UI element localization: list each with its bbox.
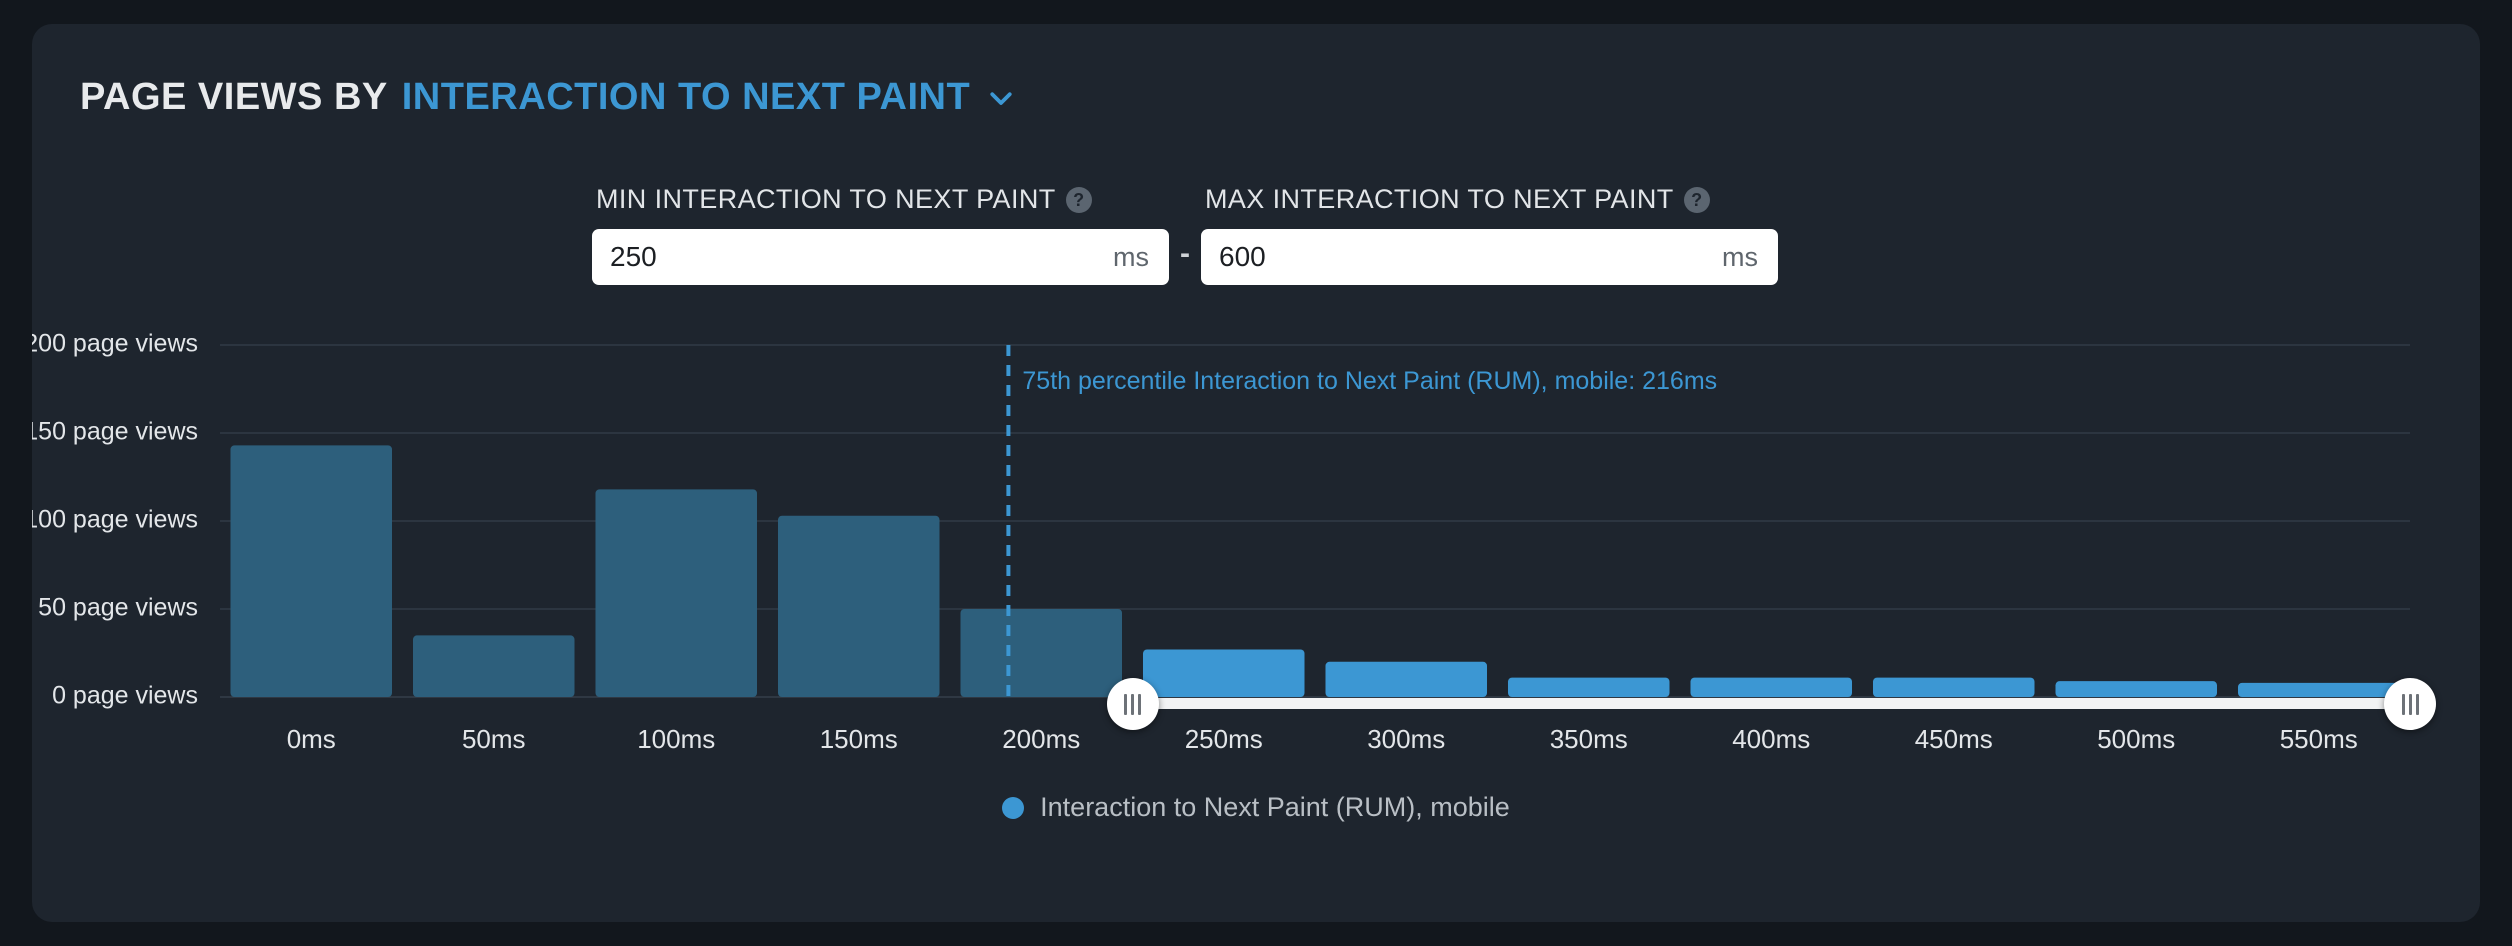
y-axis-tick-label: 200 page views [32,330,198,358]
x-axis-tick-label: 200ms [1002,724,1080,754]
histogram-bar[interactable] [1325,662,1487,697]
range-slider-fill[interactable] [1133,698,2411,709]
chart-card: PAGE VIEWS BY INTERACTION TO NEXT PAINT … [32,24,2480,922]
y-axis-labels: 0 page views50 page views100 page views1… [32,330,198,710]
x-axis-tick-label: 550ms [2280,724,2358,754]
y-axis-tick-label: 50 page views [38,594,198,622]
x-axis-tick-label: 100ms [637,724,715,754]
histogram-bar[interactable] [2238,683,2400,697]
x-axis-tick-label: 500ms [2097,724,2175,754]
grip-line [2416,694,2419,715]
chart-canvas: 0 page views50 page views100 page views1… [32,24,2480,922]
max-filter-label: MAX INTERACTION TO NEXT PAINT [1205,184,1674,215]
histogram-bar[interactable] [1508,678,1670,697]
min-value-input[interactable] [592,229,1169,285]
min-unit-label: ms [1113,242,1149,273]
histogram-bar[interactable] [2055,681,2217,697]
chevron-down-icon[interactable] [986,83,1016,113]
x-axis-tick-label: 250ms [1185,724,1263,754]
percentile-annotation-label: 75th percentile Interaction to Next Pain… [1022,367,1717,395]
min-filter-group: MIN INTERACTION TO NEXT PAINT ? ms [592,184,1169,285]
min-input-wrapper[interactable]: ms [592,229,1169,285]
gridlines [220,345,2410,697]
grip-line [2402,694,2405,715]
max-input-wrapper[interactable]: ms [1201,229,1778,285]
histogram-bar[interactable] [778,516,940,697]
min-filter-label: MIN INTERACTION TO NEXT PAINT [596,184,1056,215]
y-axis-tick-label: 0 page views [52,682,198,710]
bars-group [230,445,2399,697]
percentile-annotation: 75th percentile Interaction to Next Pain… [1008,345,1717,703]
max-unit-label: ms [1722,242,1758,273]
histogram-bar[interactable] [1873,678,2035,697]
min-range-handle[interactable] [1107,678,1159,730]
x-axis-tick-label: 150ms [820,724,898,754]
page-title-prefix: PAGE VIEWS BY [80,76,388,119]
grip-line [1124,694,1127,715]
metric-selector-label[interactable]: INTERACTION TO NEXT PAINT [402,76,970,119]
question-mark-icon[interactable]: ? [1066,187,1092,213]
max-value-input[interactable] [1201,229,1778,285]
x-axis-tick-label: 0ms [287,724,336,754]
max-range-handle[interactable] [2384,678,2436,730]
x-axis-tick-label: 50ms [462,724,526,754]
histogram-bar[interactable] [960,609,1122,697]
x-axis-tick-label: 400ms [1732,724,1810,754]
grip-line [1131,694,1134,715]
y-axis-tick-label: 150 page views [32,418,198,446]
range-separator: - [1169,237,1201,285]
x-axis-tick-label: 350ms [1550,724,1628,754]
x-axis-labels: 0ms50ms100ms150ms200ms250ms300ms350ms400… [287,724,2358,754]
y-axis-tick-label: 100 page views [32,506,198,534]
histogram-chart: 0 page views50 page views100 page views1… [32,24,2480,922]
page-title: PAGE VIEWS BY INTERACTION TO NEXT PAINT [80,76,1016,119]
x-axis-tick-label: 300ms [1367,724,1445,754]
histogram-bar[interactable] [595,489,757,697]
x-axis-tick-label: 450ms [1915,724,1993,754]
max-filter-label-row: MAX INTERACTION TO NEXT PAINT ? [1201,184,1778,215]
legend-label[interactable]: Interaction to Next Paint (RUM), mobile [1040,792,1510,823]
min-filter-label-row: MIN INTERACTION TO NEXT PAINT ? [592,184,1169,215]
legend-color-swatch [1002,797,1024,819]
range-slider-track[interactable] [1133,698,2411,709]
histogram-bar[interactable] [1690,678,1852,697]
question-mark-icon[interactable]: ? [1684,187,1710,213]
histogram-bar[interactable] [413,635,575,697]
histogram-bar[interactable] [230,445,392,697]
grip-line [1138,694,1141,715]
grip-line [2409,694,2412,715]
range-filter-controls: MIN INTERACTION TO NEXT PAINT ? ms - MAX… [592,184,1778,285]
max-filter-group: MAX INTERACTION TO NEXT PAINT ? ms [1201,184,1778,285]
histogram-bar[interactable] [1143,649,1305,697]
chart-legend: Interaction to Next Paint (RUM), mobile [32,792,2480,823]
